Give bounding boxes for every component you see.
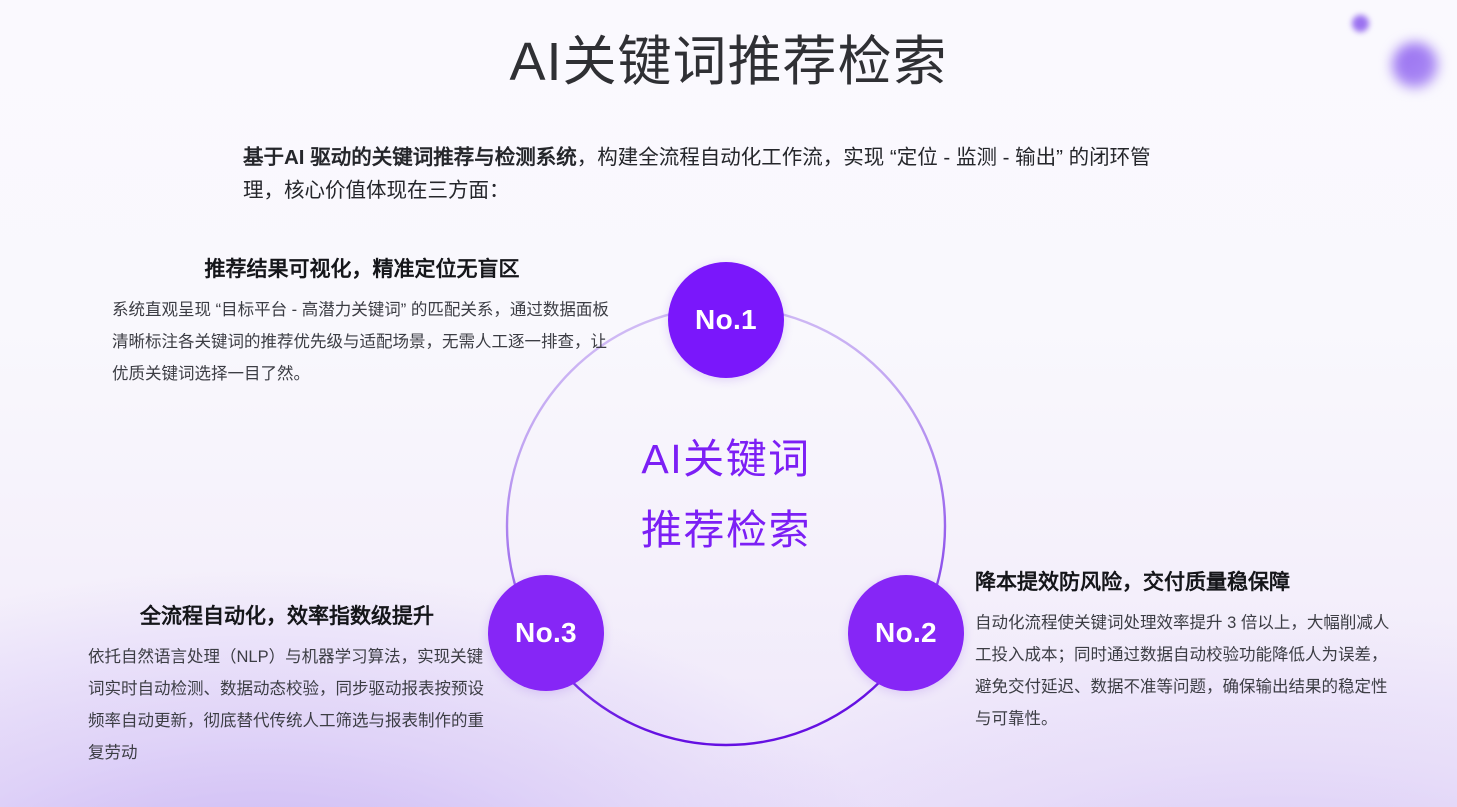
center-label-line-2: 推荐检索 xyxy=(566,495,886,566)
page-title: AI关键词推荐检索 xyxy=(0,32,1457,94)
section-one-body: 系统直观呈现 “目标平台 - 高潜力关键词” 的匹配关系，通过数据面板清晰标注各… xyxy=(112,294,612,391)
section-three-heading: 全流程自动化，效率指数级提升 xyxy=(88,602,486,632)
center-label: AI关键词 推荐检索 xyxy=(566,424,886,565)
section-one-heading: 推荐结果可视化，精准定位无盲区 xyxy=(112,255,612,285)
badge-no-1[interactable]: No.1 xyxy=(668,262,784,378)
section-three: 全流程自动化，效率指数级提升 依托自然语言处理（NLP）与机器学习算法，实现关键… xyxy=(88,602,486,770)
section-two: 降本提效防风险，交付质量稳保障 自动化流程使关键词处理效率提升 3 倍以上，大幅… xyxy=(975,568,1403,736)
decorative-dot-small-icon xyxy=(1352,15,1369,32)
section-two-body: 自动化流程使关键词处理效率提升 3 倍以上，大幅削减人工投入成本；同时通过数据自… xyxy=(975,607,1403,736)
section-one: 推荐结果可视化，精准定位无盲区 系统直观呈现 “目标平台 - 高潜力关键词” 的… xyxy=(112,255,612,390)
badge-no-3[interactable]: No.3 xyxy=(488,575,604,691)
lead-paragraph: 基于AI 驱动的关键词推荐与检测系统，构建全流程自动化工作流，实现 “定位 - … xyxy=(243,141,1173,207)
section-two-heading: 降本提效防风险，交付质量稳保障 xyxy=(975,568,1403,598)
lead-bold-text: AI 驱动的关键词推荐与检测系统 xyxy=(284,146,577,169)
badge-no-2[interactable]: No.2 xyxy=(848,575,964,691)
center-label-line-1: AI关键词 xyxy=(566,424,886,495)
lead-bold-prefix: 基于 xyxy=(243,146,284,169)
section-three-body: 依托自然语言处理（NLP）与机器学习算法，实现关键词实时自动检测、数据动态校验，… xyxy=(88,641,486,770)
slide-root: AI关键词推荐检索 基于AI 驱动的关键词推荐与检测系统，构建全流程自动化工作流… xyxy=(0,0,1457,807)
